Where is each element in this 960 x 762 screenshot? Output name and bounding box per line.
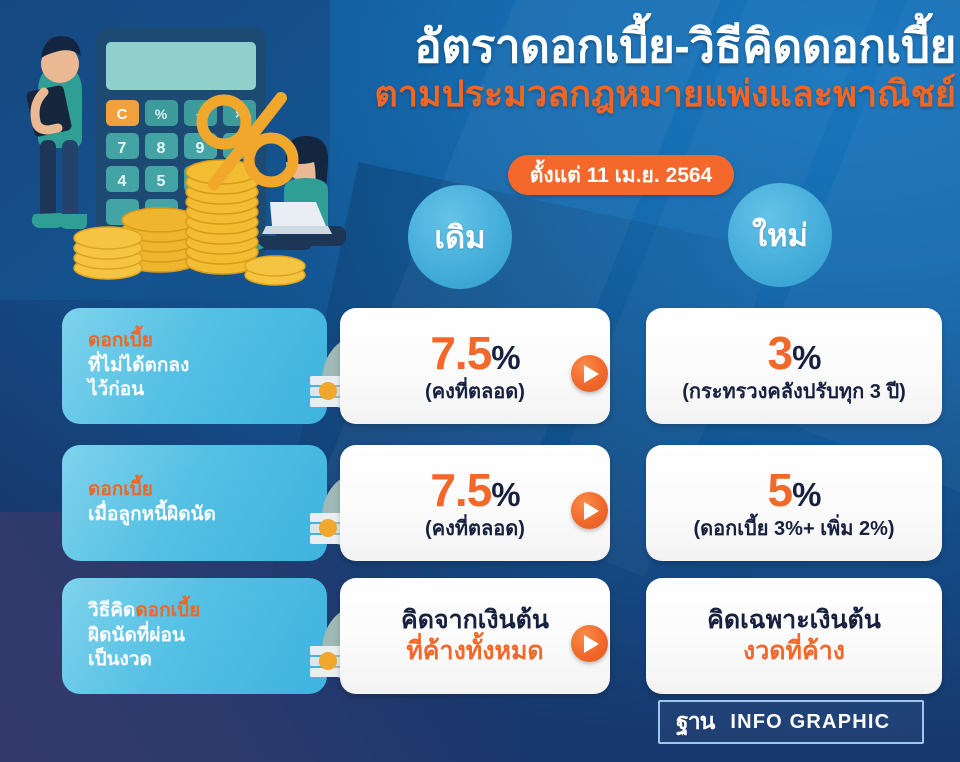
row-label-card: ดอกเบี้ย เมื่อลูกหนี้ผิดนัด bbox=[62, 445, 327, 561]
row-label-text: ดอกเบี้ย bbox=[88, 330, 153, 351]
value-new-text-secondary: งวดที่ค้าง bbox=[743, 637, 845, 667]
value-old-text-secondary: ที่ค้างทั้งหมด bbox=[406, 637, 543, 667]
svg-text:8: 8 bbox=[157, 140, 166, 157]
arrow-right-icon bbox=[571, 492, 608, 529]
infographic-canvas: C % ÷ × 7 8 9 − 4 5 bbox=[0, 0, 960, 762]
value-card-new: คิดเฉพาะเงินต้น งวดที่ค้าง bbox=[646, 578, 942, 694]
row-label-card: ดอกเบี้ย ที่ไม่ได้ตกลง ไว้ก่อน bbox=[62, 308, 327, 424]
row-label-line: ไว้ก่อน bbox=[88, 378, 327, 403]
logo-english-text: INFO GRAPHIC bbox=[730, 711, 890, 734]
value-old-text-primary: คิดจากเงินต้น bbox=[401, 606, 549, 636]
value-old-number: 7.5 bbox=[430, 464, 491, 516]
value-old-number: 7.5 bbox=[430, 327, 491, 379]
value-old-unit: % bbox=[491, 476, 519, 513]
page-title: อัตราดอกเบี้ย-วิธีคิดดอกเบี้ย ตามประมวลก… bbox=[268, 22, 956, 114]
svg-text:5: 5 bbox=[157, 173, 166, 190]
value-new: 3% bbox=[768, 330, 821, 376]
value-new: 5% bbox=[768, 467, 821, 513]
value-new-unit: % bbox=[792, 339, 820, 376]
comparison-row: วิธีคิดดอกเบี้ย ผิดนัดที่ผ่อน เป็นงวด bbox=[62, 578, 942, 694]
row-label-text: ดอกเบี้ย bbox=[88, 479, 153, 500]
column-header-new-label: ใหม่ bbox=[752, 210, 808, 260]
value-new-unit: % bbox=[792, 476, 820, 513]
title-line-1: อัตราดอกเบี้ย-วิธีคิดดอกเบี้ย bbox=[268, 22, 956, 71]
column-header-old: เดิม bbox=[408, 185, 512, 289]
column-header-old-label: เดิม bbox=[434, 212, 485, 262]
svg-text:%: % bbox=[155, 106, 168, 122]
value-old-note: (คงที่ตลอด) bbox=[425, 518, 525, 540]
effective-date-badge: ตั้งแต่ 11 เม.ย. 2564 bbox=[508, 155, 734, 195]
value-old: 7.5% bbox=[430, 330, 519, 376]
row-label-text: วิธีคิด bbox=[88, 600, 135, 621]
comparison-row: ดอกเบี้ย ที่ไม่ได้ตกลง ไว้ก่อน bbox=[62, 308, 942, 424]
logo-thai-text: ฐาน bbox=[676, 704, 714, 740]
row-label-text-highlight: ดอกเบี้ย bbox=[135, 600, 200, 621]
value-card-old: 7.5% (คงที่ตลอด) bbox=[340, 445, 610, 561]
column-header-new: ใหม่ bbox=[728, 183, 832, 287]
row-label-card: วิธีคิดดอกเบี้ย ผิดนัดที่ผ่อน เป็นงวด bbox=[62, 578, 327, 694]
row-label-line: ดอกเบี้ย bbox=[88, 478, 327, 503]
comparison-row: ดอกเบี้ย เมื่อลูกหนี้ผิดนัด bbox=[62, 445, 942, 561]
value-card-new: 3% (กระทรวงคลังปรับทุก 3 ปี) bbox=[646, 308, 942, 424]
value-new-number: 3 bbox=[768, 327, 793, 379]
value-card-old: 7.5% (คงที่ตลอด) bbox=[340, 308, 610, 424]
row-label-line: ผิดนัดที่ผ่อน bbox=[88, 624, 327, 649]
title-line-2: ตามประมวลกฎหมายแพ่งและพาณิชย์ bbox=[268, 73, 956, 114]
row-label-line: วิธีคิดดอกเบี้ย bbox=[88, 599, 327, 624]
arrow-right-icon bbox=[571, 355, 608, 392]
row-label-line: ดอกเบี้ย bbox=[88, 329, 327, 354]
svg-text:4: 4 bbox=[118, 173, 127, 190]
row-label-line: เป็นงวด bbox=[88, 648, 327, 673]
value-old-unit: % bbox=[491, 339, 519, 376]
value-old-note: (คงที่ตลอด) bbox=[425, 381, 525, 403]
value-card-old: คิดจากเงินต้น ที่ค้างทั้งหมด bbox=[340, 578, 610, 694]
value-new-text-primary: คิดเฉพาะเงินต้น bbox=[707, 606, 881, 636]
svg-text:7: 7 bbox=[118, 140, 127, 157]
arrow-right-icon bbox=[571, 625, 608, 662]
publisher-logo: ฐาน INFO GRAPHIC bbox=[658, 700, 924, 744]
value-new-note: (ดอกเบี้ย 3%+ เพิ่ม 2%) bbox=[693, 518, 894, 540]
row-label-line: ที่ไม่ได้ตกลง bbox=[88, 354, 327, 379]
row-label-line: เมื่อลูกหนี้ผิดนัด bbox=[88, 503, 327, 528]
svg-text:C: C bbox=[117, 106, 128, 123]
svg-text:9: 9 bbox=[196, 140, 205, 157]
value-card-new: 5% (ดอกเบี้ย 3%+ เพิ่ม 2%) bbox=[646, 445, 942, 561]
value-new-number: 5 bbox=[768, 464, 793, 516]
value-old: 7.5% bbox=[430, 467, 519, 513]
value-new-note: (กระทรวงคลังปรับทุก 3 ปี) bbox=[682, 381, 906, 403]
